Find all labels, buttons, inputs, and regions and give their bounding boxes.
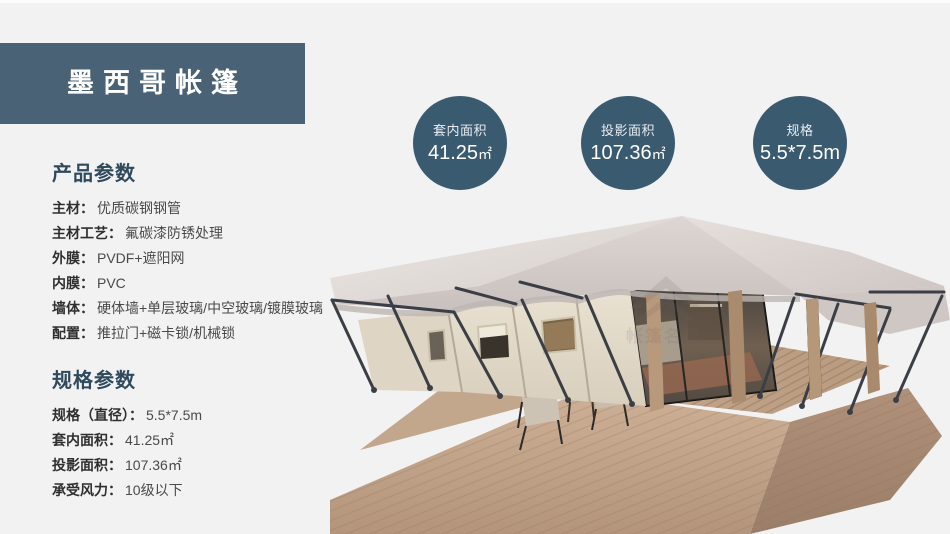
- spec-label: 墙体：: [52, 301, 94, 315]
- section-heading-dimensions: 规格参数: [52, 369, 362, 393]
- top-hairline: [0, 0, 950, 3]
- spec-row: 外膜： PVDF+遮阳网: [52, 245, 362, 270]
- spec-value: 5.5*7.5m: [146, 408, 202, 422]
- stat-badge-number: 41.25: [428, 142, 478, 164]
- spec-label: 主材工艺：: [52, 226, 122, 240]
- spec-value: PVC: [97, 276, 126, 290]
- spec-value: 硬体墙+单层玻璃/中空玻璃/镀膜玻璃: [97, 301, 323, 315]
- spec-value: 10级以下: [125, 483, 183, 497]
- slide-canvas: 墨西哥帐篷 产品参数 主材： 优质碳钢钢管 主材工艺： 氟碳漆防锈处理 外膜： …: [0, 0, 950, 534]
- stat-badge-unit: ㎡: [652, 146, 666, 162]
- spec-row: 内膜： PVC: [52, 270, 362, 295]
- stat-badge-value: 107.36㎡: [590, 143, 665, 163]
- stat-badge-projected-area: 投影面积 107.36㎡: [581, 96, 675, 190]
- spec-label: 套内面积：: [52, 433, 122, 447]
- deck-front-grain: [330, 392, 790, 534]
- tent-render: 帐篷名居: [330, 200, 950, 534]
- stat-badge-label: 投影面积: [601, 124, 655, 137]
- spec-label: 外膜：: [52, 251, 94, 265]
- tent-illustration: 帐篷名居: [330, 200, 950, 534]
- stat-badge-interior-area: 套内面积 41.25㎡: [413, 96, 507, 190]
- stat-badge-value: 5.5*7.5m: [760, 143, 840, 163]
- spec-row: 承受风力： 10级以下: [52, 477, 362, 502]
- spec-label: 投影面积：: [52, 458, 122, 472]
- spec-list-dimensions: 规格（直径）： 5.5*7.5m 套内面积： 41.25㎡ 投影面积： 107.…: [52, 402, 362, 502]
- stat-badge-unit: ㎡: [478, 146, 492, 162]
- stat-badge-number: 5.5*7.5m: [760, 142, 840, 164]
- stat-badge-number: 107.36: [590, 142, 651, 164]
- spec-label: 主材：: [52, 201, 94, 215]
- watermark-text: 帐篷名居: [626, 326, 702, 346]
- spec-row: 套内面积： 41.25㎡: [52, 427, 362, 452]
- section-heading-product: 产品参数: [52, 162, 362, 186]
- spec-list-product: 主材： 优质碳钢钢管 主材工艺： 氟碳漆防锈处理 外膜： PVDF+遮阳网 内膜…: [52, 195, 362, 345]
- spec-row: 投影面积： 107.36㎡: [52, 452, 362, 477]
- spec-row: 主材工艺： 氟碳漆防锈处理: [52, 220, 362, 245]
- stat-badge-label: 规格: [786, 124, 813, 137]
- spec-row: 主材： 优质碳钢钢管: [52, 195, 362, 220]
- spec-row: 规格（直径）： 5.5*7.5m: [52, 402, 362, 427]
- title-banner: 墨西哥帐篷: [0, 43, 305, 124]
- spec-value: 氟碳漆防锈处理: [125, 226, 223, 240]
- spec-value: 优质碳钢钢管: [97, 201, 181, 215]
- spec-label: 内膜：: [52, 276, 94, 290]
- spec-value: 41.25㎡: [125, 433, 174, 447]
- spec-value: 推拉门+磁卡锁/机械锁: [97, 326, 235, 340]
- spec-label: 规格（直径）：: [52, 408, 143, 422]
- spec-label: 配置：: [52, 326, 94, 340]
- spec-value: 107.36㎡: [125, 458, 182, 472]
- spec-row: 配置： 推拉门+磁卡锁/机械锁: [52, 320, 362, 345]
- stat-badge-dimensions: 规格 5.5*7.5m: [753, 96, 847, 190]
- spec-value: PVDF+遮阳网: [97, 251, 185, 265]
- spec-panel: 产品参数 主材： 优质碳钢钢管 主材工艺： 氟碳漆防锈处理 外膜： PVDF+遮…: [52, 162, 362, 502]
- page-title: 墨西哥帐篷: [58, 70, 247, 97]
- spec-row: 墙体： 硬体墙+单层玻璃/中空玻璃/镀膜玻璃: [52, 295, 362, 320]
- stat-badge-value: 41.25㎡: [428, 143, 492, 163]
- spec-label: 承受风力：: [52, 483, 122, 497]
- stat-badge-label: 套内面积: [433, 124, 487, 137]
